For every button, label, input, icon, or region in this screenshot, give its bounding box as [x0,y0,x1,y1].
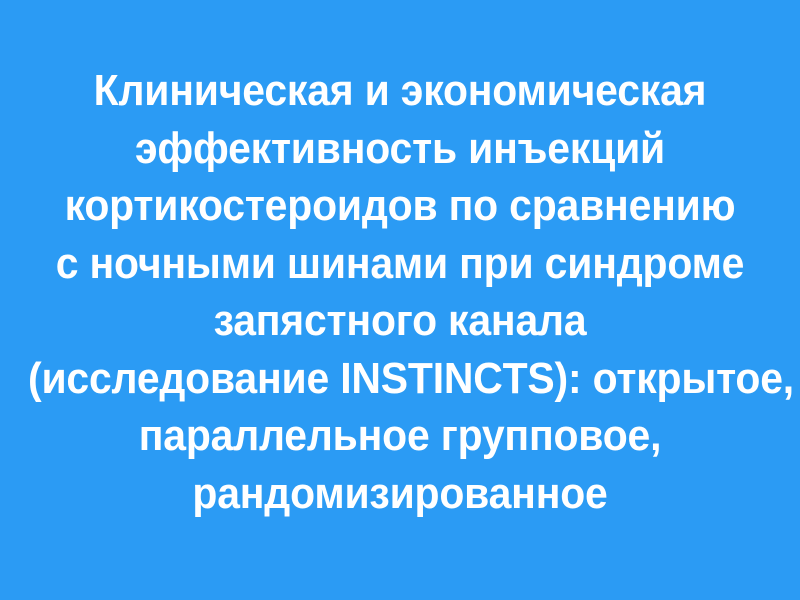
title-line-8: рандомизированное [28,465,772,523]
title-line-7: параллельное групповое, [28,407,772,465]
title-line-2: эффективность инъекций [28,120,772,178]
slide-canvas: Клиническая и экономическая эффективност… [0,0,800,600]
title-line-1: Клиническая и экономическая [28,62,772,120]
slide-title: Клиническая и экономическая эффективност… [0,62,800,522]
title-line-6: (исследование INSTINCTS): открытое, [28,350,772,408]
title-line-4: с ночными шинами при синдроме [28,235,772,293]
title-line-5: запястного канала [28,292,772,350]
title-line-3: кортикостероидов по сравнению [28,177,772,235]
